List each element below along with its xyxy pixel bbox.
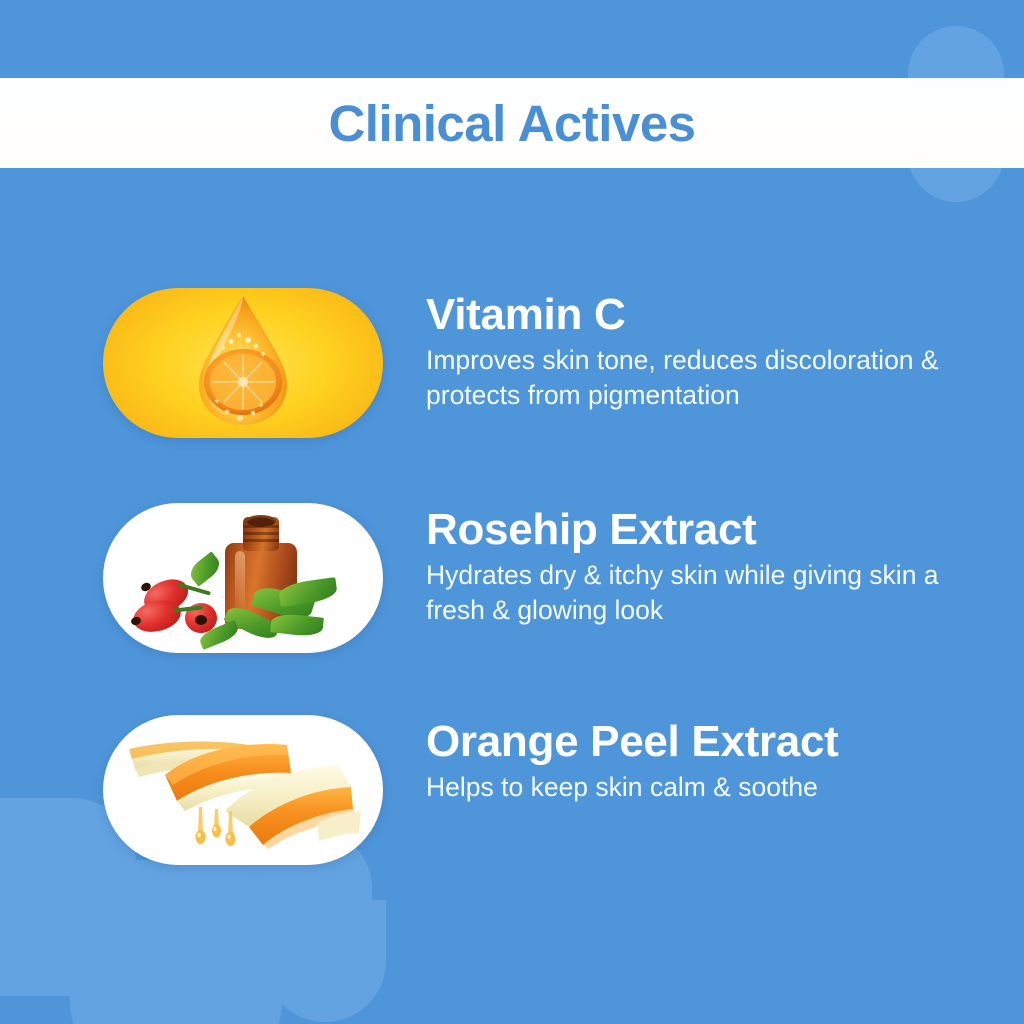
orange-peel-strips-dripping-oil-icon: [103, 715, 383, 865]
rosehip-berry-tip: [195, 615, 207, 625]
bottle-mouth: [246, 515, 276, 527]
leaf: [270, 612, 324, 637]
ingredient-name: Rosehip Extract: [426, 507, 993, 553]
list-item: Vitamin C Improves skin tone, reduces di…: [103, 288, 993, 438]
ingredient-text-block: Rosehip Extract Hydrates dry & itchy ski…: [383, 503, 993, 628]
ingredient-description: Helps to keep skin calm & soothe: [426, 770, 993, 805]
ingredient-text-block: Vitamin C Improves skin tone, reduces di…: [383, 288, 993, 413]
page-title: Clinical Actives: [328, 98, 695, 149]
list-item: Orange Peel Extract Helps to keep skin c…: [103, 715, 993, 865]
bottle-highlight: [235, 551, 245, 613]
oil-droplet-orange-slice-icon: [103, 288, 383, 438]
ingredient-name: Orange Peel Extract: [426, 719, 993, 765]
ingredient-description: Improves skin tone, reduces discoloratio…: [426, 343, 993, 413]
bottle-thread: [243, 532, 279, 535]
bottle-thread: [243, 539, 279, 542]
clinical-actives-poster: Clinical Actives: [0, 0, 1024, 1024]
droplet-artwork: [103, 288, 383, 438]
amber-oil-bottle-rosehip-berries-icon: [103, 503, 383, 653]
title-banner: Clinical Actives: [0, 78, 1024, 168]
leaf: [186, 551, 224, 586]
orange-peel-artwork: [103, 715, 383, 865]
ingredient-description: Hydrates dry & itchy skin while giving s…: [426, 558, 993, 628]
ingredient-name: Vitamin C: [426, 292, 993, 338]
list-item: Rosehip Extract Hydrates dry & itchy ski…: [103, 503, 993, 653]
ingredient-text-block: Orange Peel Extract Helps to keep skin c…: [383, 715, 993, 805]
